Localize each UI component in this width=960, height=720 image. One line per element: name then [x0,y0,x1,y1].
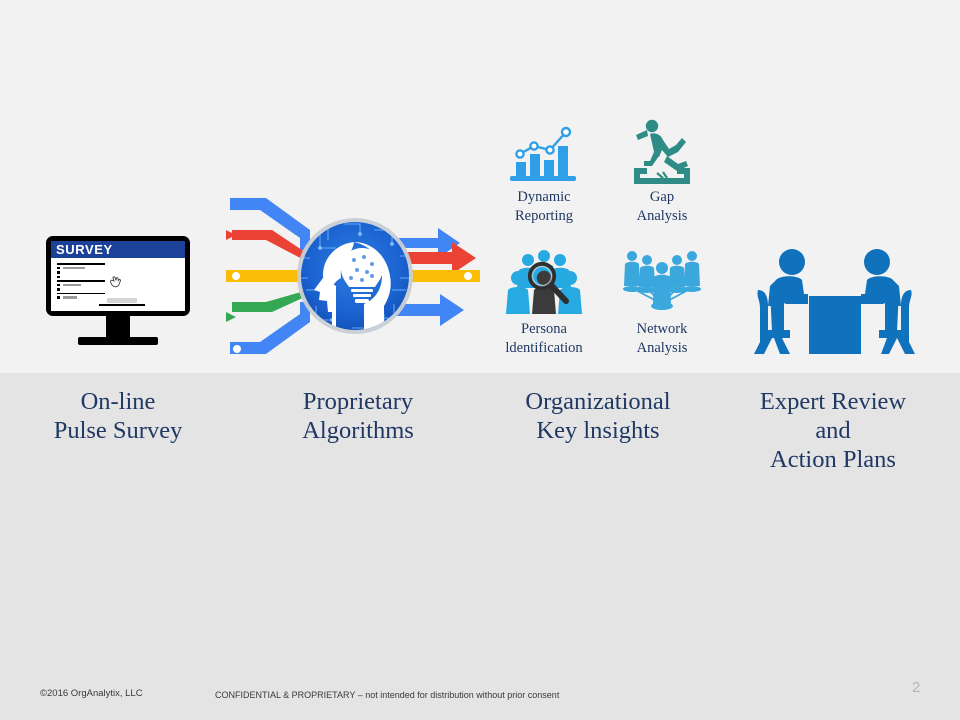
bullet-icon [57,284,60,287]
button-underline [99,304,145,306]
survey-rule [57,280,105,282]
meeting-table-icon [752,246,917,358]
survey-question-list [57,263,105,301]
survey-monitor-icon: SURVEY [46,236,194,358]
bullet-icon [57,296,60,299]
insight-label-line1: Persona [488,320,600,339]
bullet-icon [57,276,60,279]
caption-proprietary-algorithms: Proprietary Algorithms [258,387,458,445]
insight-dynamic-reporting[interactable]: Dynamic Reporting [488,112,600,226]
people-magnifier-icon [488,244,600,316]
caption-line2: Pulse Survey [18,416,218,445]
monitor-screen: SURVEY [51,241,185,311]
insight-label-line2: Reporting [488,207,600,226]
caption-organizational-key-insights: Organizational Key lnsights [498,387,698,445]
insight-label-line2: ldentification [488,339,600,358]
caption-line2: and [733,416,933,445]
survey-option [57,267,105,270]
insight-label-line2: Analysis [606,207,718,226]
caption-line1: Expert Review [733,387,933,416]
survey-rule [57,293,105,295]
graphics-row: SURVEY [0,0,960,373]
survey-option [57,271,105,274]
option-text [63,296,77,299]
stage-captions: On-line Pulse Survey Proprietary Algorit… [0,382,960,492]
caption-line1: On-line [18,387,218,416]
person-jumping-gap-icon [606,112,718,184]
survey-option [57,276,105,279]
survey-submit-button[interactable] [99,298,145,306]
insight-persona-identification[interactable]: Persona ldentification [488,244,600,358]
insight-network-analysis[interactable]: Network Analysis [606,244,718,358]
insight-label: Gap Analysis [606,188,718,226]
bullet-icon [57,267,60,270]
caption-line2: Key lnsights [498,416,698,445]
monitor-stand-neck [106,316,130,337]
insight-label: Dynamic Reporting [488,188,600,226]
insight-label-line2: Analysis [606,339,718,358]
insight-label: Persona ldentification [488,320,600,358]
insights-icon-grid: Dynamic Reporting [488,112,720,362]
survey-option [57,284,105,287]
survey-rule [57,263,105,265]
page-number: 2 [912,679,920,696]
bar-chart-line-icon [488,112,600,184]
button-fill [107,298,137,303]
insight-label: Network Analysis [606,320,718,358]
caption-online-pulse-survey: On-line Pulse Survey [18,387,218,445]
survey-option [57,296,105,299]
hand-cursor-icon [107,274,125,290]
insight-label-line1: Dynamic [488,188,600,207]
option-text [63,284,81,286]
caption-line2: Algorithms [258,416,458,445]
monitor-stand-base [78,337,158,345]
people-network-icon [606,244,718,316]
bullet-icon [57,271,60,274]
slide-canvas: SURVEY [0,0,960,720]
caption-line1: Proprietary [258,387,458,416]
bullet-icon [57,288,60,291]
footer-confidentiality-notice: CONFIDENTIAL & PROPRIETARY – not intende… [215,690,559,700]
footer-copyright: ©2016 OrgAnalytix, LLC [40,688,143,699]
insight-gap-analysis[interactable]: Gap Analysis [606,112,718,226]
insight-label-line1: Network [606,320,718,339]
monitor-bezel: SURVEY [46,236,190,316]
caption-line3: Action Plans [733,445,933,474]
ai-brain-circuit-icon [224,186,486,362]
caption-expert-review-and-action-plans: Expert Review and Action Plans [733,387,933,474]
survey-screen-title: SURVEY [51,241,185,258]
caption-line1: Organizational [498,387,698,416]
survey-option [57,288,105,291]
option-text [63,267,85,269]
insight-label-line1: Gap [606,188,718,207]
